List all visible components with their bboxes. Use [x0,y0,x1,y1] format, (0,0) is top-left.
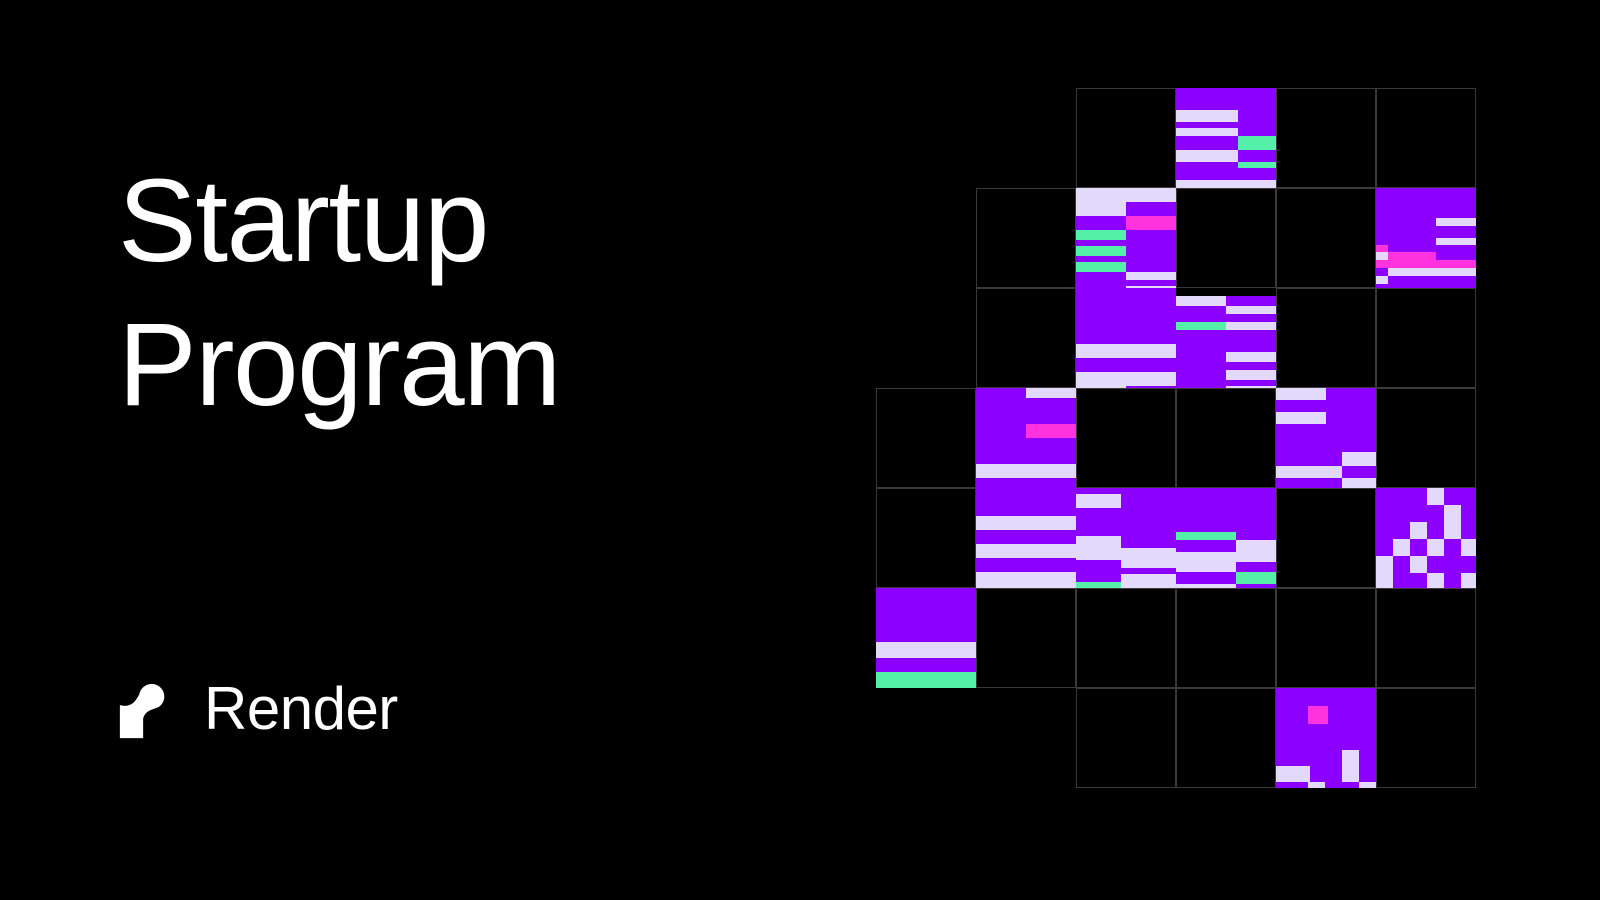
mosaic-band-segment [976,398,1076,424]
mosaic-cell-outline [876,488,976,588]
mosaic-band-segment [976,516,1076,530]
mosaic-cell-outline [1276,188,1376,288]
mosaic-cell-outline [1276,288,1376,388]
mosaic-band-segment [1176,540,1236,552]
mosaic-band-segment [1176,314,1276,322]
mosaic-band-segment [1176,362,1276,370]
mosaic-tile [876,588,976,688]
mosaic-band-segment [976,572,1076,588]
mosaic-band-segment [1236,552,1276,562]
mosaic-band-segment [1376,252,1388,260]
mosaic-band-segment [976,488,1076,516]
mosaic-band-segment [1226,296,1276,306]
mosaic-band-segment [1376,284,1476,288]
mosaic-band-segment [1126,246,1176,256]
mosaic-band-segment [976,438,1076,464]
mosaic-band-segment [1276,688,1376,706]
mosaic-band-segment [1121,548,1176,560]
mosaic-band-segment [1176,128,1238,136]
mosaic-band-segment [1126,262,1176,272]
mosaic-tile [1376,488,1476,588]
mosaic-band-segment [1176,370,1226,380]
mosaic-band-segment [1276,466,1342,478]
mosaic-band-segment [1376,245,1388,252]
mosaic-band-segment [1176,572,1236,584]
mosaic-cell-outline [1376,88,1476,188]
mosaic-band-segment [1076,560,1121,568]
mosaic-band-segment [1176,136,1238,150]
mosaic-band-segment [1126,272,1176,280]
mosaic-tile [1176,88,1276,188]
mosaic-band-segment [1342,452,1376,466]
mosaic-tile [1076,488,1176,588]
mosaic-band-segment [1342,478,1376,488]
mosaic-cell-outline [1076,88,1176,188]
mosaic-band-segment [1176,322,1226,330]
mosaic-band-segment [1436,268,1476,276]
mosaic-band-segment [1388,268,1436,276]
mosaic-band-segment [1376,268,1388,276]
mosaic-band-segment [1076,272,1126,280]
mosaic-band-segment [1376,226,1476,238]
mosaic-tile [1176,488,1276,588]
mosaic-band-segment [1226,352,1276,362]
mosaic-band-segment [876,642,976,658]
mosaic-cell-outline [1276,88,1376,188]
mosaic-band-segment [1226,322,1276,330]
mosaic-tile [1376,188,1476,288]
mosaic-band-segment [1276,452,1342,466]
mosaic-band-segment [1176,150,1238,162]
mosaic-checker-block [1376,573,1393,588]
mosaic-band-segment [976,424,1026,438]
mosaic-tile [1276,688,1376,788]
mosaic-band-segment [1276,424,1376,452]
mosaic-band-segment [1436,252,1476,260]
mosaic-band-segment [1328,706,1376,724]
render-logo-icon [116,678,178,740]
mosaic-cell-outline [1276,488,1376,588]
mosaic-cell-outline [1276,588,1376,688]
mosaic-checker-block [1461,539,1476,556]
mosaic-band-segment [1076,288,1176,344]
mosaic-band-segment [1176,386,1226,388]
mosaic-band-segment [1176,352,1226,362]
mosaic-band-segment [1376,276,1388,284]
mosaic-cell-outline [1176,688,1276,788]
mosaic-band-segment [1121,582,1176,588]
mosaic-band-segment [1126,216,1176,230]
brand-name: Render [204,679,398,739]
mosaic-band-segment [1076,548,1121,560]
mosaic-cell-outline [1376,288,1476,388]
mosaic-band-segment [1238,110,1276,122]
mosaic-band-segment [1376,260,1436,268]
mosaic-band-segment [1236,584,1276,588]
mosaic-cell-outline [1076,588,1176,688]
headline-block: Startup Program [118,150,838,438]
mosaic-band-segment [1121,494,1176,508]
mosaic-checker-block [1393,539,1410,556]
decorative-mosaic [876,88,1500,788]
mosaic-band-segment [1076,574,1121,582]
brand-lockup: Render [116,678,398,740]
mosaic-band-segment [1276,388,1326,400]
mosaic-cell-outline [1076,388,1176,488]
mosaic-band-segment [1436,260,1476,268]
mosaic-band-segment [1126,230,1176,240]
mosaic-band-segment [976,558,1076,572]
mosaic-band-segment [1176,168,1276,180]
mosaic-band-segment [1176,584,1236,588]
mosaic-band-segment [1076,188,1126,202]
mosaic-band-segment [1238,136,1276,150]
mosaic-band-segment [1276,750,1342,766]
mosaic-tile [1176,288,1276,388]
mosaic-band-segment [1376,218,1436,226]
mosaic-band-segment [1308,706,1328,724]
mosaic-cell-outline [1076,688,1176,788]
mosaic-band-segment [1076,230,1126,240]
mosaic-band-segment [1310,766,1342,782]
mosaic-band-segment [1076,582,1121,588]
mosaic-cell-outline [976,188,1076,288]
mosaic-band-segment [1076,372,1176,386]
mosaic-band-segment [1276,766,1293,782]
mosaic-band-segment [1176,330,1276,352]
mosaic-band-segment [1076,262,1126,272]
page-title: Startup Program [118,150,838,438]
mosaic-band-segment [1076,216,1126,230]
mosaic-band-segment [1436,238,1476,245]
mosaic-checker-block [1444,505,1461,522]
mosaic-band-segment [1026,388,1076,398]
mosaic-band-segment [1226,386,1276,388]
mosaic-checker-block [1410,556,1427,573]
mosaic-band-segment [1121,536,1176,548]
mosaic-checker-block [1427,488,1444,505]
mosaic-band-segment [1176,562,1236,572]
mosaic-band-segment [1276,400,1376,412]
mosaic-cell-outline [976,588,1076,688]
mosaic-band-segment [1076,358,1176,372]
mosaic-band-segment [1236,572,1276,584]
mosaic-band-segment [1276,478,1342,488]
mosaic-checker-block [1427,573,1444,588]
mosaic-band-segment [1308,782,1325,788]
mosaic-band-segment [1342,766,1359,782]
mosaic-band-segment [1238,150,1276,162]
mosaic-band-segment [1176,532,1236,540]
mosaic-band-segment [1176,306,1226,314]
mosaic-cell-outline [1376,388,1476,488]
mosaic-band-segment [976,464,1076,478]
mosaic-checker-block [1427,539,1444,556]
mosaic-band-segment [1326,412,1376,424]
mosaic-band-segment [976,544,1076,558]
mosaic-band-segment [1126,386,1176,388]
mosaic-band-segment [926,672,976,688]
mosaic-tile [1076,288,1176,388]
poster-canvas: Startup Program Render [0,0,1600,900]
mosaic-band-segment [976,388,1026,398]
mosaic-band-segment [1226,370,1276,380]
mosaic-band-segment [1076,508,1176,536]
mosaic-band-segment [1176,180,1276,188]
mosaic-checker-block [1376,556,1393,573]
mosaic-tile [1276,388,1376,488]
mosaic-cell-outline [1376,688,1476,788]
mosaic-band-segment [1236,540,1276,552]
mosaic-band-segment [1376,238,1436,245]
mosaic-band-segment [1076,386,1126,388]
mosaic-band-segment [1076,536,1121,548]
mosaic-band-segment [876,658,976,672]
mosaic-band-segment [1342,750,1359,766]
mosaic-band-segment [1176,288,1276,296]
mosaic-band-segment [1376,188,1476,218]
mosaic-band-segment [876,672,926,688]
mosaic-band-segment [1076,202,1126,216]
mosaic-band-segment [876,588,976,642]
mosaic-checker-block [1461,573,1476,588]
mosaic-cell-outline [1176,188,1276,288]
mosaic-band-segment [1126,202,1176,216]
mosaic-band-segment [1176,296,1226,306]
mosaic-band-segment [976,478,1076,488]
mosaic-band-segment [1388,252,1436,260]
mosaic-tile [976,488,1076,588]
mosaic-band-segment [1238,128,1276,136]
mosaic-cell-outline [876,388,976,488]
mosaic-band-segment [1326,388,1376,400]
mosaic-band-segment [1026,424,1076,438]
mosaic-band-segment [1276,782,1308,788]
mosaic-band-segment [1076,344,1176,358]
mosaic-band-segment [1076,246,1126,256]
mosaic-band-segment [1176,552,1236,562]
mosaic-cell-outline [1376,588,1476,688]
mosaic-band-segment [1236,532,1276,540]
mosaic-band-segment [976,530,1076,544]
mosaic-band-segment [1359,750,1376,766]
mosaic-band-segment [1176,88,1276,110]
mosaic-band-segment [1359,766,1376,782]
mosaic-band-segment [1176,488,1276,532]
mosaic-cell-outline [1176,588,1276,688]
mosaic-band-segment [1276,412,1326,424]
mosaic-checker-block [1410,522,1427,539]
mosaic-band-segment [1226,306,1276,314]
mosaic-band-segment [1325,782,1359,788]
mosaic-tile [976,388,1076,488]
mosaic-tile [1076,188,1176,288]
mosaic-band-segment [1276,724,1376,750]
mosaic-band-segment [1236,562,1276,572]
mosaic-band-segment [1436,218,1476,226]
mosaic-band-segment [1276,706,1308,724]
mosaic-checker-block [1444,522,1461,539]
mosaic-band-segment [1126,188,1176,202]
mosaic-band-segment [1121,574,1176,582]
mosaic-band-segment [1388,276,1476,284]
mosaic-cell-outline [1176,388,1276,488]
mosaic-band-segment [1342,466,1376,478]
mosaic-band-segment [1076,494,1121,508]
mosaic-cell-outline [976,288,1076,388]
mosaic-band-segment [1293,766,1310,782]
mosaic-band-segment [1388,245,1476,252]
mosaic-band-segment [1359,782,1376,788]
mosaic-band-segment [1121,560,1176,568]
mosaic-band-segment [1176,110,1238,122]
